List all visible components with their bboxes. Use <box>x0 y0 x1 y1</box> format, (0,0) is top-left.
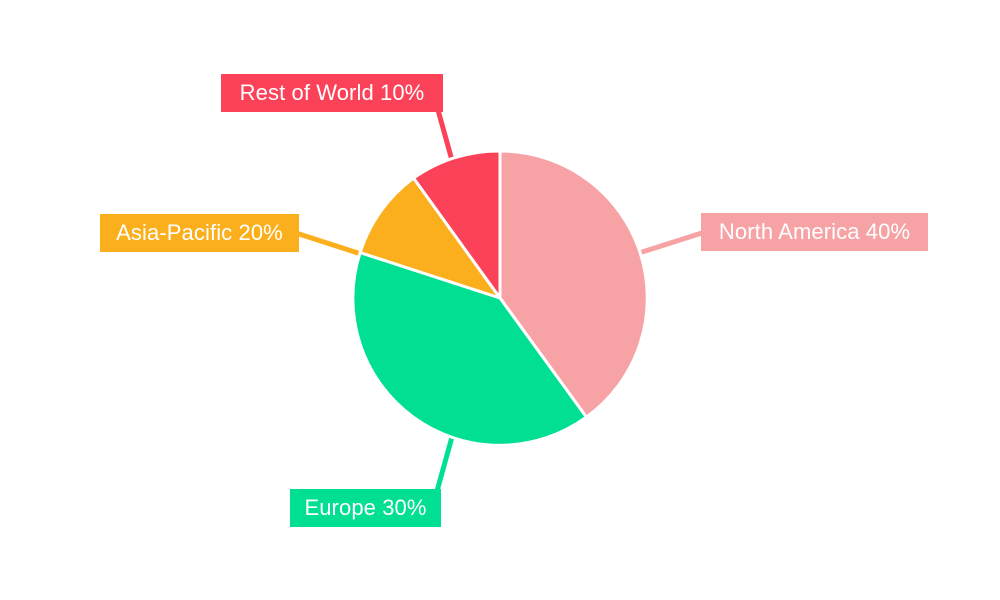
pie-label-north-america[interactable]: North America 40% <box>701 213 928 251</box>
pie-label-asia-pacific[interactable]: Asia-Pacific 20% <box>100 214 299 252</box>
leader-line-europe <box>437 437 452 491</box>
leader-line-asia-pacific <box>296 233 361 254</box>
leader-line-north-america <box>639 232 705 253</box>
pie-label-europe[interactable]: Europe 30% <box>290 489 441 527</box>
pie-chart-canvas <box>0 0 1000 600</box>
leader-line-rest-of-world <box>438 110 453 164</box>
pie-slices <box>353 151 647 445</box>
pie-label-rest-of-world[interactable]: Rest of World 10% <box>221 74 443 112</box>
pie-chart-figure: North America 40% Europe 30% Asia-Pacifi… <box>0 0 1000 600</box>
